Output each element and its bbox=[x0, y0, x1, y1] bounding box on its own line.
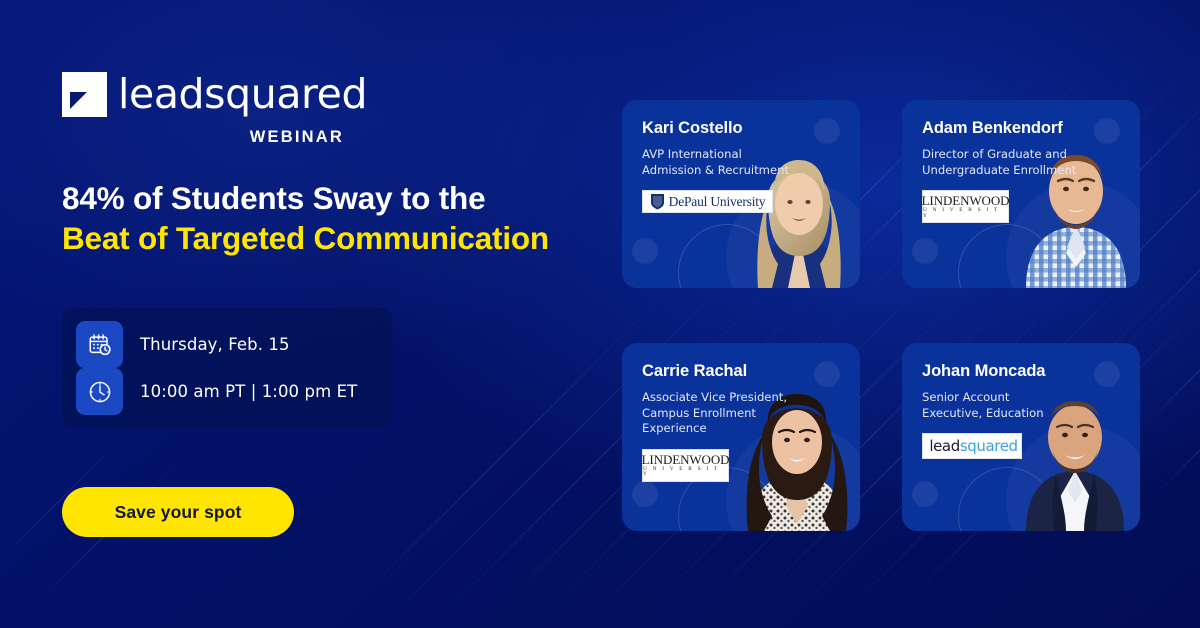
save-your-spot-button[interactable]: Save your spot bbox=[62, 487, 294, 537]
lindenwood-logo-text: LINDENWOOD bbox=[922, 194, 1010, 207]
depaul-logo-text: DePaul University bbox=[669, 194, 766, 210]
speaker-card: Adam Benkendorf Director of Graduate and… bbox=[902, 100, 1140, 288]
speaker-name: Adam Benkendorf bbox=[922, 119, 1140, 138]
speaker-role: Associate Vice President, Campus Enrollm… bbox=[642, 390, 860, 437]
lindenwood-university-logo: LINDENWOOD U N I V E R S I T Y bbox=[922, 190, 1009, 223]
left-panel: leadsquared WEBINAR 84% of Students Sway… bbox=[62, 0, 622, 628]
event-time-text: 10:00 am PT | 1:00 pm ET bbox=[140, 382, 357, 401]
event-details-panel: Thursday, Feb. 15 10:00 am PT | 1:00 pm … bbox=[62, 308, 392, 427]
decor-dot-bottom-left bbox=[632, 481, 658, 507]
speaker-role-line: Campus Enrollment bbox=[642, 406, 860, 422]
decor-dot-bottom-left bbox=[632, 238, 658, 264]
speaker-role: AVP International Admission & Recruitmen… bbox=[642, 147, 860, 178]
speaker-card: Kari Costello AVP International Admissio… bbox=[622, 100, 860, 288]
speaker-info: Kari Costello AVP International Admissio… bbox=[642, 119, 860, 215]
lindenwood-logo-subtext: U N I V E R S I T Y bbox=[923, 208, 1008, 219]
calendar-clock-icon bbox=[76, 321, 123, 368]
leadsquared-logo: leadsquared bbox=[922, 433, 1022, 459]
speaker-role-line: Undergraduate Enrollment bbox=[922, 163, 1140, 179]
speaker-info: Johan Moncada Senior Account Executive, … bbox=[922, 362, 1140, 459]
speaker-role-line: Associate Vice President, bbox=[642, 390, 860, 406]
speaker-role-line: AVP International bbox=[642, 147, 860, 163]
leadsquared-logo-part-a: lead bbox=[929, 437, 960, 455]
speaker-role-line: Senior Account bbox=[922, 390, 1140, 406]
event-date-row: Thursday, Feb. 15 bbox=[76, 321, 378, 368]
lindenwood-logo-subtext: U N I V E R S I T Y bbox=[643, 467, 728, 478]
webinar-kicker: WEBINAR bbox=[62, 128, 344, 147]
speaker-role: Director of Graduate and Undergraduate E… bbox=[922, 147, 1140, 178]
speaker-info: Adam Benkendorf Director of Graduate and… bbox=[922, 119, 1140, 223]
leadsquared-logo-part-b: squared bbox=[960, 437, 1018, 455]
speaker-role-line: Admission & Recruitment bbox=[642, 163, 860, 179]
leadsquared-logo-icon bbox=[62, 72, 107, 117]
speaker-role-line: Director of Graduate and bbox=[922, 147, 1140, 163]
decor-dot-bottom-left bbox=[912, 238, 938, 264]
speaker-card: Johan Moncada Senior Account Executive, … bbox=[902, 343, 1140, 531]
speaker-role-line: Executive, Education bbox=[922, 406, 1140, 422]
event-date-text: Thursday, Feb. 15 bbox=[140, 335, 290, 354]
clock-icon bbox=[76, 368, 123, 415]
speaker-role: Senior Account Executive, Education bbox=[922, 390, 1140, 421]
speaker-name: Carrie Rachal bbox=[642, 362, 860, 381]
speaker-role-line: Experience bbox=[642, 421, 860, 437]
speaker-name: Kari Costello bbox=[642, 119, 860, 138]
brand-logo-block: leadsquared WEBINAR bbox=[62, 72, 344, 147]
headline-line-2: Beat of Targeted Communication bbox=[62, 218, 622, 258]
event-time-row: 10:00 am PT | 1:00 pm ET bbox=[76, 368, 378, 415]
page-title: 84% of Students Sway to the Beat of Targ… bbox=[62, 178, 622, 259]
depaul-crest-icon bbox=[650, 193, 665, 210]
leadsquared-logo-text: leadsquared bbox=[929, 439, 1017, 454]
depaul-university-logo: DePaul University bbox=[642, 190, 773, 213]
lindenwood-logo-text: LINDENWOOD bbox=[642, 453, 730, 466]
speaker-card: Carrie Rachal Associate Vice President, … bbox=[622, 343, 860, 531]
lindenwood-university-logo: LINDENWOOD U N I V E R S I T Y bbox=[642, 449, 729, 482]
headline-line-1: 84% of Students Sway to the bbox=[62, 178, 622, 218]
speaker-name: Johan Moncada bbox=[922, 362, 1140, 381]
speaker-info: Carrie Rachal Associate Vice President, … bbox=[642, 362, 860, 482]
brand-wordmark: leadsquared bbox=[118, 74, 367, 115]
decor-dot-bottom-left bbox=[912, 481, 938, 507]
